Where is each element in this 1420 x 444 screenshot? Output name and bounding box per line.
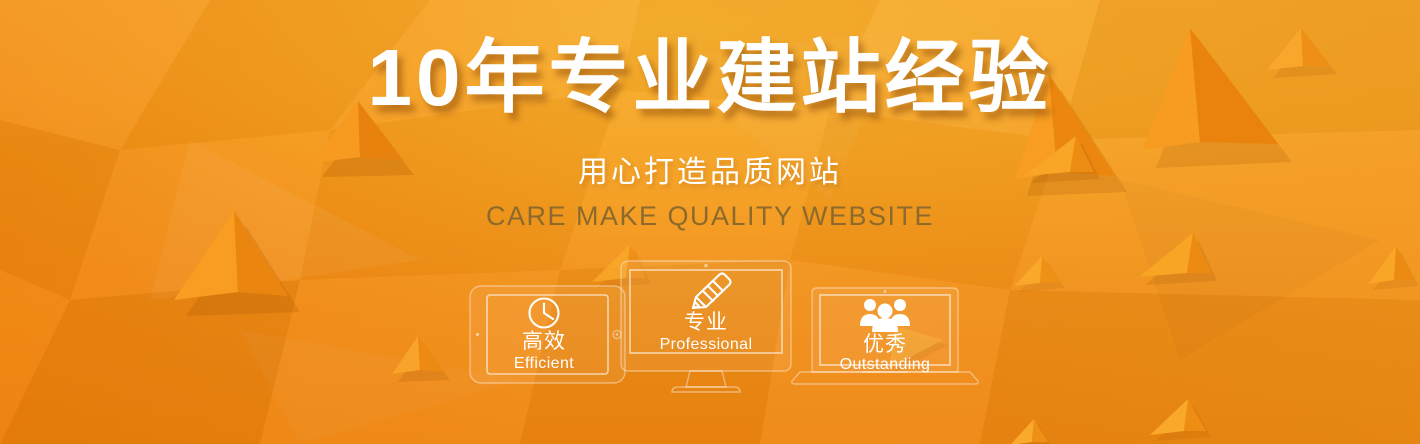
device-monitor: 专业 Professional — [621, 261, 791, 392]
tablet-label-en: Efficient — [514, 355, 574, 372]
laptop-label-en: Outstanding — [840, 356, 931, 373]
device-laptop: 优秀 Outstanding — [792, 288, 978, 384]
promo-banner: 10年专业建站经验 用心打造品质网站 CARE MAKE QUALITY WEB… — [0, 0, 1420, 444]
device-illustration-group: 高效 Efficient 专业 Profess — [0, 0, 1420, 444]
tablet-label-cn: 高效 — [522, 330, 566, 353]
laptop-label-cn: 优秀 — [863, 333, 907, 356]
device-tablet: 高效 Efficient — [470, 286, 625, 383]
monitor-label-cn: 专业 — [684, 311, 728, 334]
monitor-label-en: Professional — [660, 336, 753, 353]
